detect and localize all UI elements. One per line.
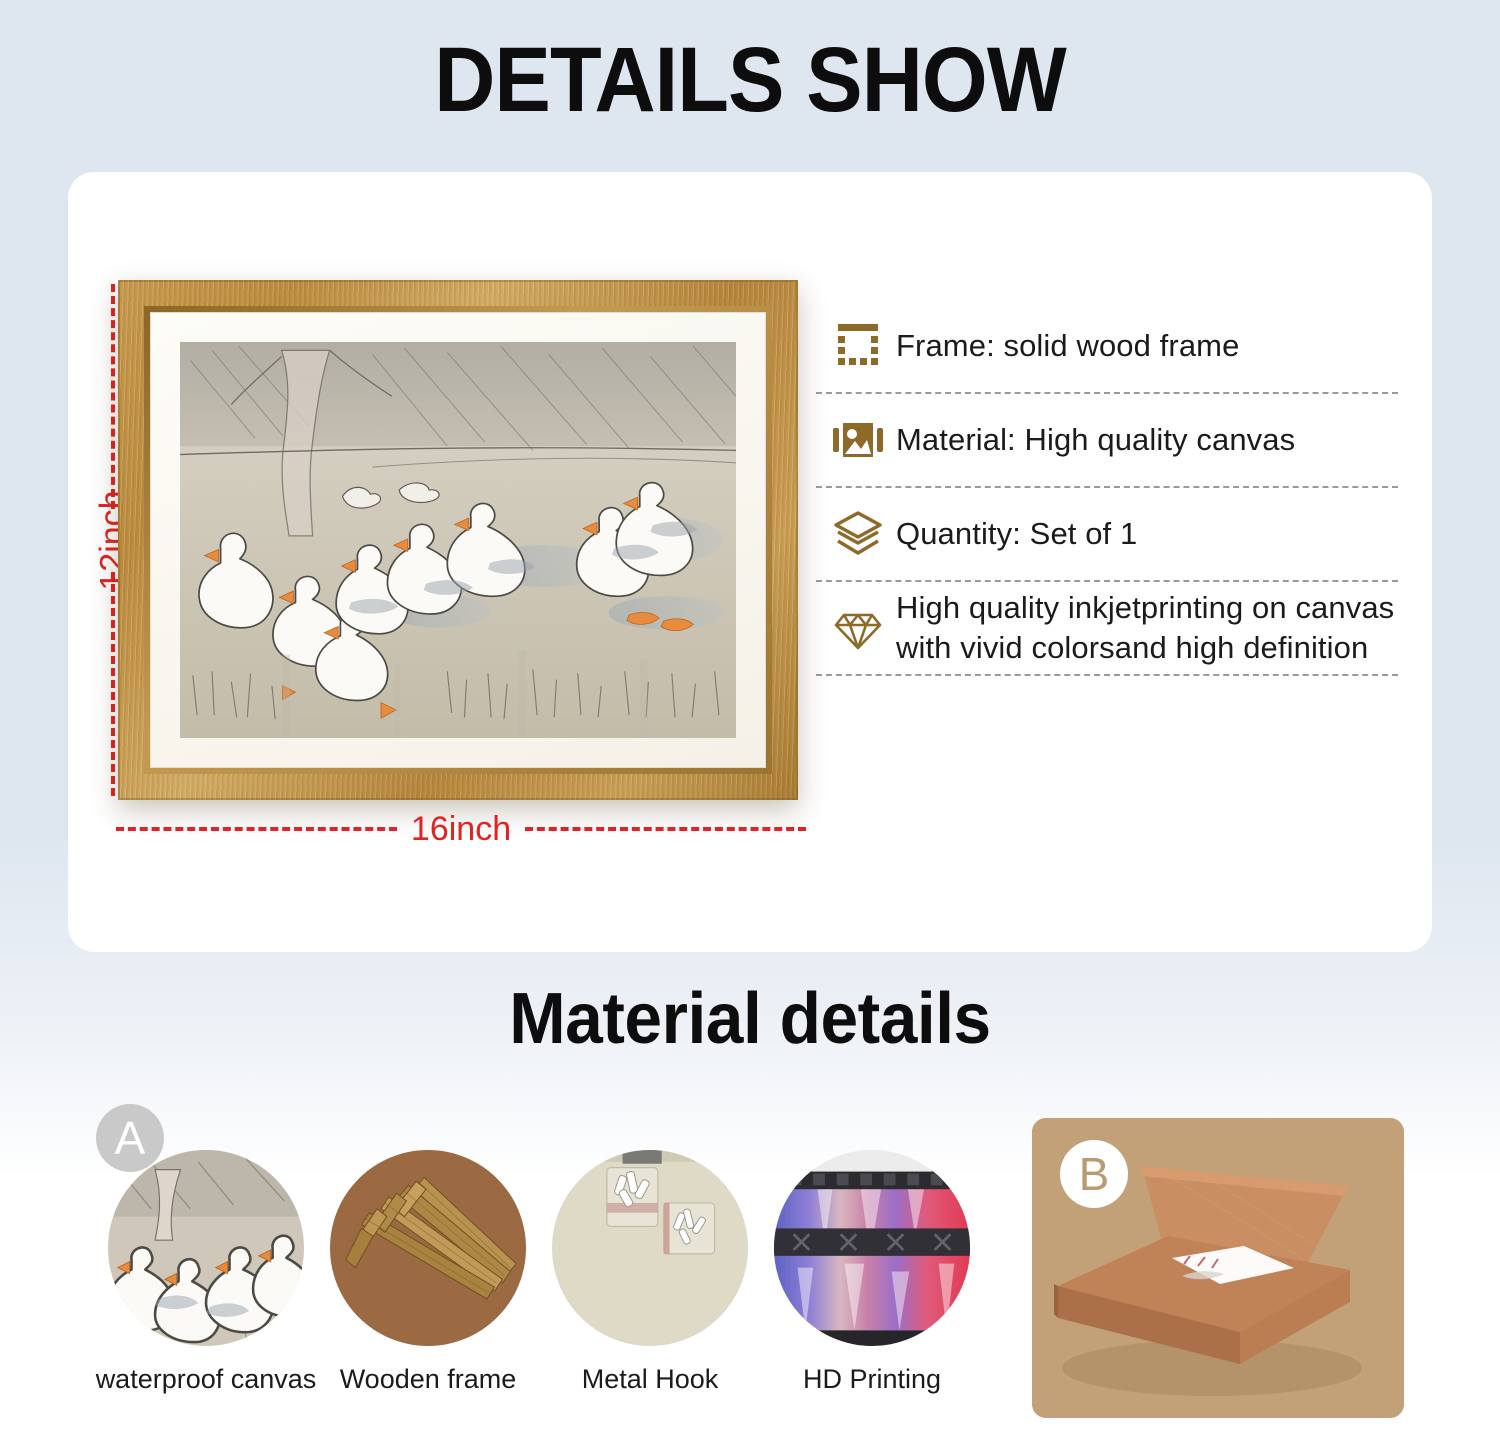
spec-label-material: Material: High quality canvas bbox=[896, 420, 1295, 460]
specification-list: Frame: solid wood frame Material: High q… bbox=[816, 300, 1398, 676]
width-dimension-callout: 16inch bbox=[116, 806, 806, 852]
metal-hook-thumb[interactable] bbox=[552, 1150, 748, 1346]
image-icon bbox=[820, 416, 896, 464]
thumb-caption: Wooden frame bbox=[340, 1364, 517, 1395]
material-thumbnail-row: waterproof canvas bbox=[106, 1150, 986, 1395]
thumb-caption: HD Printing bbox=[803, 1364, 941, 1395]
waterproof-canvas-thumb[interactable] bbox=[108, 1150, 304, 1346]
spec-label-quantity: Quantity: Set of 1 bbox=[896, 514, 1137, 554]
material-panel-b: B bbox=[1032, 1118, 1404, 1418]
material-thumb-metal-hook[interactable]: Metal Hook bbox=[550, 1150, 750, 1395]
dimension-dash-line-top bbox=[111, 284, 115, 509]
frame-icon bbox=[820, 320, 896, 372]
detail-card: 12inch bbox=[68, 172, 1432, 952]
spec-label-printing: High quality inkjetprinting on canvas wi… bbox=[896, 588, 1394, 667]
wood-frame bbox=[118, 280, 798, 800]
spec-row-printing: High quality inkjetprinting on canvas wi… bbox=[816, 582, 1398, 674]
wooden-frame-thumb[interactable] bbox=[330, 1150, 526, 1346]
hd-printing-thumb[interactable] bbox=[774, 1150, 970, 1346]
width-dimension-label: 16inch bbox=[397, 810, 525, 849]
layers-icon bbox=[820, 508, 896, 560]
spec-label-frame: Frame: solid wood frame bbox=[896, 326, 1239, 366]
material-thumb-waterproof-canvas[interactable]: waterproof canvas bbox=[106, 1150, 306, 1395]
spec-row-frame: Frame: solid wood frame bbox=[816, 300, 1398, 392]
dimension-dash-line-right bbox=[525, 827, 806, 831]
mat-board bbox=[150, 312, 766, 768]
framed-artwork bbox=[118, 280, 798, 800]
diamond-icon bbox=[820, 602, 896, 654]
panel-b-badge: B bbox=[1060, 1140, 1128, 1208]
spec-printing-line1: High quality inkjetprinting on canvas bbox=[896, 590, 1394, 625]
artwork-image bbox=[180, 342, 736, 738]
spec-row-quantity: Quantity: Set of 1 bbox=[816, 488, 1398, 580]
thumb-caption: Metal Hook bbox=[582, 1364, 719, 1395]
material-thumb-hd-printing[interactable]: HD Printing bbox=[772, 1150, 972, 1395]
spec-separator bbox=[816, 674, 1398, 676]
material-thumb-wooden-frame[interactable]: Wooden frame bbox=[328, 1150, 528, 1395]
thumb-caption: waterproof canvas bbox=[96, 1364, 317, 1395]
spec-printing-line2: with vivid colorsand high definition bbox=[896, 630, 1368, 665]
spec-row-material: Material: High quality canvas bbox=[816, 394, 1398, 486]
dimension-dash-line-bottom bbox=[111, 572, 115, 797]
page-title: DETAILS SHOW bbox=[60, 28, 1440, 133]
panel-a-badge: A bbox=[96, 1104, 164, 1172]
dimension-dash-line-left bbox=[116, 827, 397, 831]
section-title-material-details: Material details bbox=[45, 978, 1455, 1060]
material-panel-a: A bbox=[96, 1104, 986, 1424]
